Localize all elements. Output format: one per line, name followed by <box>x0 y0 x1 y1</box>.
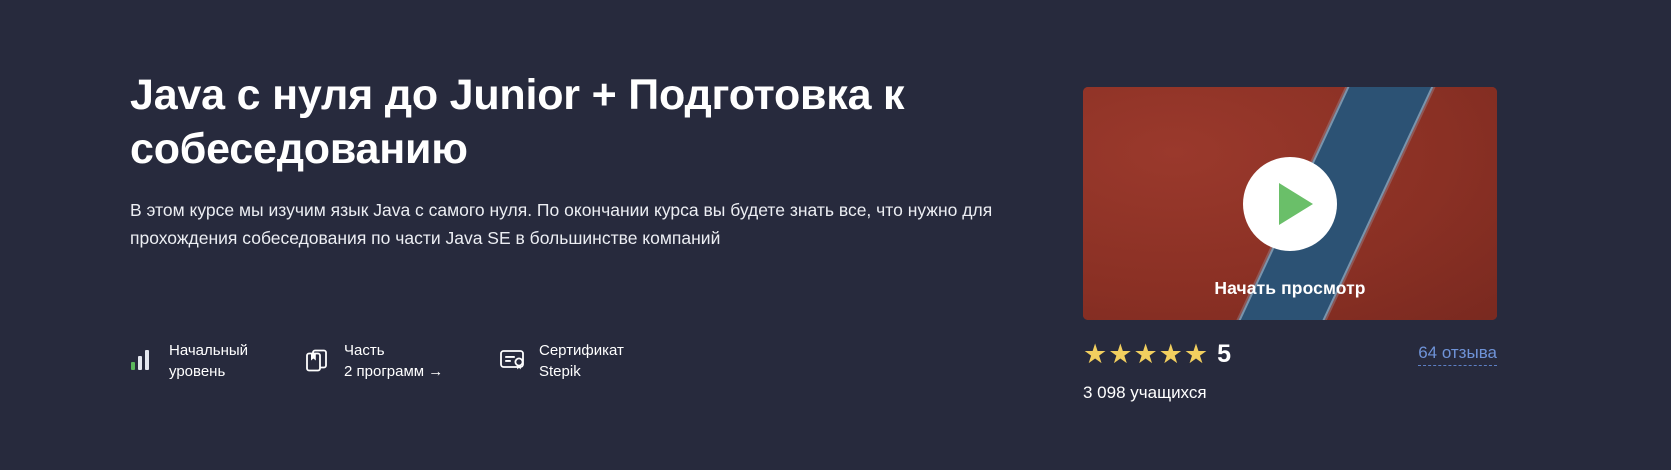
play-triangle-shape <box>1279 183 1313 225</box>
rating-stars: ★ ★ ★ ★ ★ <box>1083 341 1208 368</box>
play-icon[interactable] <box>1243 157 1337 251</box>
certificate-icon <box>500 345 526 375</box>
course-features-row: Начальный уровень Часть 2 программ → <box>130 340 720 382</box>
feature-certificate-line2: Stepik <box>539 361 624 382</box>
star-icon-5: ★ <box>1184 341 1208 368</box>
feature-part-label[interactable]: Часть 2 программ → <box>344 340 443 382</box>
reviews-link[interactable]: 64 отзыва <box>1418 343 1497 366</box>
stacked-books-icon <box>305 345 331 375</box>
feature-difficulty-line2: уровень <box>169 361 248 382</box>
course-hero-banner: Java с нуля до Junior + Подготовка к соб… <box>0 0 1671 470</box>
feature-difficulty-level: Начальный уровень <box>130 340 305 382</box>
feature-difficulty-label: Начальный уровень <box>169 340 248 382</box>
star-icon-3: ★ <box>1133 341 1157 368</box>
course-promo-video-thumbnail[interactable]: Начать просмотр <box>1083 87 1497 320</box>
feature-part-of-programs[interactable]: Часть 2 программ → <box>305 340 500 382</box>
rating-value: 5 <box>1217 341 1231 368</box>
learners-count: 3 098 учащихся <box>1083 383 1207 403</box>
feature-part-line2[interactable]: 2 программ → <box>344 361 443 382</box>
course-title: Java с нуля до Junior + Подготовка к соб… <box>130 68 990 176</box>
feature-certificate-line1: Сертификат <box>539 342 624 359</box>
feature-part-line1: Часть <box>344 342 385 359</box>
star-icon-1: ★ <box>1083 341 1107 368</box>
course-media-column: Начать просмотр ★ ★ ★ ★ ★ 5 64 отзыва 3 … <box>1083 0 1497 470</box>
course-rating-row: ★ ★ ★ ★ ★ 5 64 отзыва <box>1083 341 1497 368</box>
rating-score-group: ★ ★ ★ ★ ★ 5 <box>1083 341 1231 368</box>
feature-certificate-label: Сертификат Stepik <box>539 340 624 382</box>
star-icon-2: ★ <box>1108 341 1132 368</box>
video-caption: Начать просмотр <box>1083 278 1497 299</box>
course-description: В этом курсе мы изучим язык Java с самог… <box>130 196 1000 252</box>
course-info-column: Java с нуля до Junior + Подготовка к соб… <box>130 0 1030 470</box>
bar-chart-icon <box>130 345 156 375</box>
feature-difficulty-line1: Начальный <box>169 342 248 359</box>
feature-certificate: Сертификат Stepik <box>500 340 720 382</box>
star-icon-4: ★ <box>1159 341 1183 368</box>
